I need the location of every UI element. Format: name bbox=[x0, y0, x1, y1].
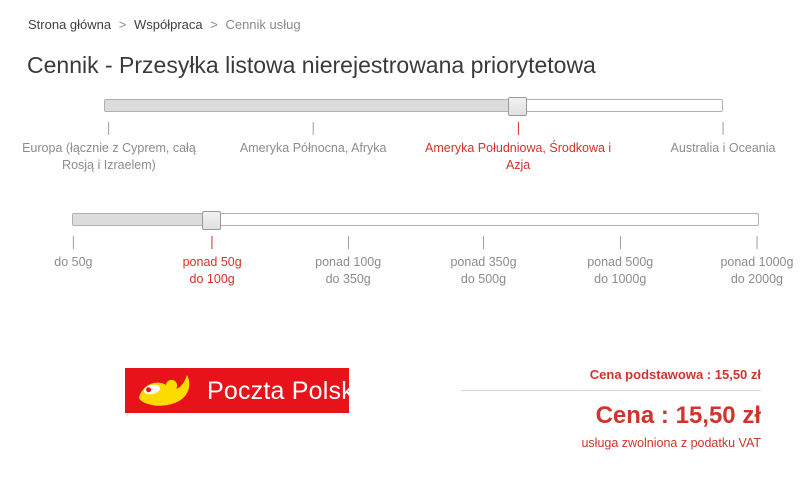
weight-slider-labels: do 50gponad 50gdo 100gponad 100gdo 350gp… bbox=[0, 236, 809, 306]
zone-slider-option-2[interactable]: Ameryka Południowa, Środkowa iAzja bbox=[425, 122, 611, 174]
zone-slider-option-1[interactable]: Ameryka Północna, Afryka bbox=[240, 122, 387, 157]
tick-mark bbox=[108, 122, 109, 135]
post-horn-icon bbox=[135, 372, 199, 410]
breadcrumb: Strona główna > Współpraca > Cennik usłu… bbox=[28, 17, 301, 33]
weight-slider-option-4[interactable]: ponad 500gdo 1000g bbox=[587, 236, 653, 288]
breadcrumb-separator: > bbox=[210, 17, 218, 32]
page-title: Cennik - Przesyłka listowa nierejestrowa… bbox=[27, 50, 596, 80]
zone-slider-option-label: Rosją i Izraelem) bbox=[22, 157, 196, 174]
weight-slider-option-label: ponad 100g bbox=[315, 254, 381, 271]
weight-slider-option-label: ponad 50g bbox=[183, 254, 242, 271]
weight-slider-option-label: ponad 1000g bbox=[720, 254, 793, 271]
price-main-label: Cena : 15,50 zł bbox=[461, 391, 761, 431]
weight-slider-option-label: ponad 350g bbox=[450, 254, 516, 271]
tick-mark bbox=[73, 236, 74, 249]
breadcrumb-item-wspolpraca[interactable]: Współpraca bbox=[134, 17, 203, 32]
zone-slider-option-label: Ameryka Południowa, Środkowa i bbox=[425, 140, 611, 157]
breadcrumb-item-home[interactable]: Strona główna bbox=[28, 17, 111, 32]
breadcrumb-separator: > bbox=[119, 17, 127, 32]
zone-slider-handle[interactable] bbox=[508, 97, 527, 116]
weight-slider-option-label: do 500g bbox=[450, 271, 516, 288]
zone-slider-option-label: Azja bbox=[425, 157, 611, 174]
breadcrumb-item-current: Cennik usług bbox=[225, 17, 300, 32]
zone-slider-option-label: Europa (łącznie z Cyprem, całą bbox=[22, 140, 196, 157]
weight-slider-option-label: do 350g bbox=[315, 271, 381, 288]
weight-slider-option-label: do 1000g bbox=[587, 271, 653, 288]
weight-slider-option-label: ponad 500g bbox=[587, 254, 653, 271]
zone-slider-track-wrap[interactable] bbox=[104, 97, 723, 115]
weight-slider-option-5[interactable]: ponad 1000gdo 2000g bbox=[720, 236, 793, 288]
tick-mark bbox=[313, 122, 314, 135]
weight-slider-handle[interactable] bbox=[202, 211, 221, 230]
tick-mark bbox=[620, 236, 621, 249]
zone-slider-option-3[interactable]: Australia i Oceania bbox=[671, 122, 776, 157]
poczta-polska-logo: Poczta Polska bbox=[125, 368, 349, 413]
logo-text: Poczta Polska bbox=[207, 377, 349, 405]
zone-slider-option-0[interactable]: Europa (łącznie z Cyprem, całąRosją i Iz… bbox=[22, 122, 196, 174]
price-vat-note: usługa zwolniona z podatku VAT bbox=[461, 431, 761, 452]
weight-slider-option-label: do 100g bbox=[183, 271, 242, 288]
tick-mark bbox=[483, 236, 484, 249]
weight-slider-track-wrap[interactable] bbox=[72, 211, 759, 229]
tick-mark bbox=[722, 122, 723, 135]
weight-slider-fill bbox=[73, 214, 205, 225]
weight-slider-option-3[interactable]: ponad 350gdo 500g bbox=[450, 236, 516, 288]
zone-slider-option-label: Ameryka Północna, Afryka bbox=[240, 140, 387, 157]
weight-slider-option-1[interactable]: ponad 50gdo 100g bbox=[183, 236, 242, 288]
price-panel: Cena podstawowa : 15,50 zł Cena : 15,50 … bbox=[461, 366, 761, 452]
price-base-label: Cena podstawowa : 15,50 zł bbox=[461, 366, 761, 390]
tick-mark bbox=[756, 236, 757, 249]
weight-slider-option-label: do 2000g bbox=[720, 271, 793, 288]
zone-slider-option-label: Australia i Oceania bbox=[671, 140, 776, 157]
weight-slider-option-label: do 50g bbox=[54, 254, 92, 271]
tick-mark bbox=[348, 236, 349, 249]
zone-slider-labels: Europa (łącznie z Cyprem, całąRosją i Iz… bbox=[0, 122, 809, 192]
zone-slider-fill bbox=[105, 100, 511, 111]
tick-mark bbox=[518, 122, 519, 135]
tick-mark bbox=[212, 236, 213, 249]
weight-slider-option-0[interactable]: do 50g bbox=[54, 236, 92, 271]
weight-slider-option-2[interactable]: ponad 100gdo 350g bbox=[315, 236, 381, 288]
